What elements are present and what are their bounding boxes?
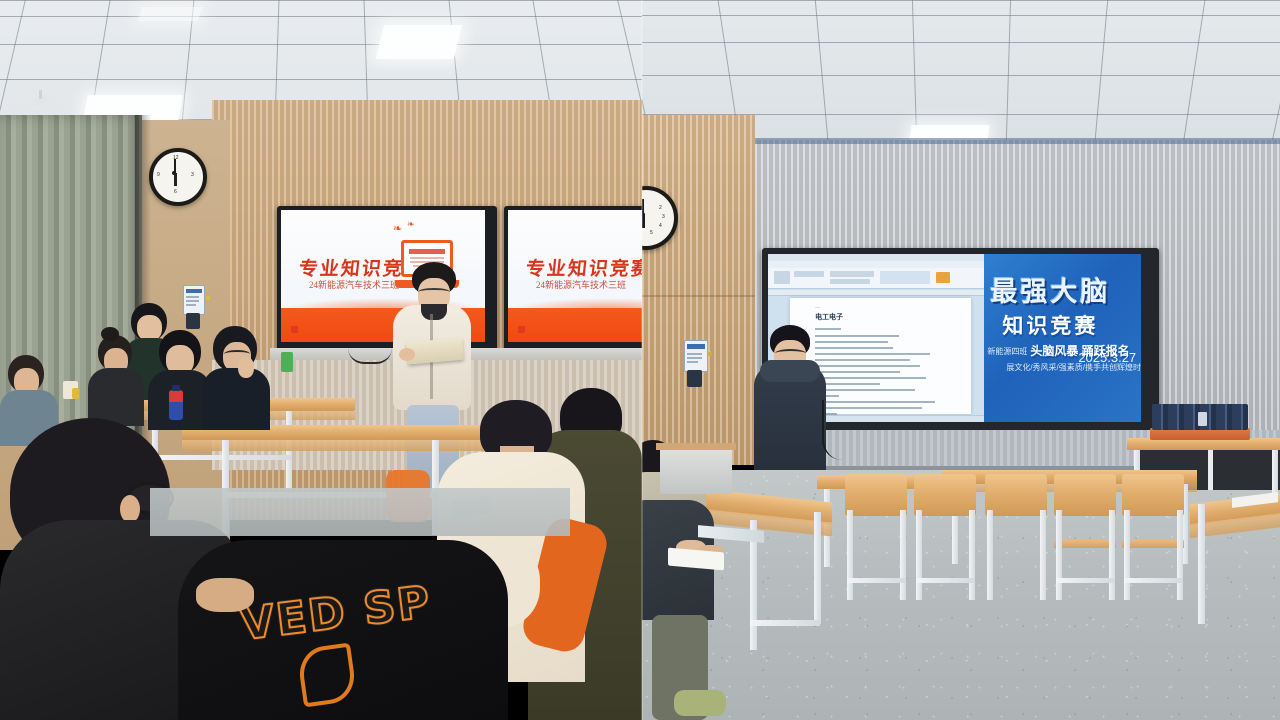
ceiling-speaker-stem bbox=[39, 90, 42, 99]
doc-ruler bbox=[768, 290, 984, 296]
phone-rack-device-highlight bbox=[1198, 412, 1207, 426]
back-desk-shelf-divider bbox=[1208, 450, 1213, 490]
ribbon-button[interactable] bbox=[774, 271, 790, 284]
chair-leg bbox=[1177, 510, 1183, 600]
slide-subtitle-2: 24新能源汽车技术三班 bbox=[536, 278, 626, 291]
wall-clock: 12 3 6 9 bbox=[149, 148, 207, 206]
chair-back[interactable] bbox=[914, 474, 976, 516]
right-presenter-hood bbox=[760, 360, 820, 382]
chair-leg bbox=[1056, 510, 1062, 600]
poster-headline: 最强大脑 bbox=[990, 270, 1110, 309]
chair-leg bbox=[1124, 510, 1130, 600]
floor-left bbox=[150, 488, 570, 536]
chair-seat[interactable] bbox=[1122, 540, 1184, 548]
poster-subhead: 知识竞赛 bbox=[1002, 310, 1098, 340]
ribbon-button[interactable] bbox=[880, 271, 930, 284]
chair-leg bbox=[987, 510, 993, 600]
ribbon-button[interactable] bbox=[830, 279, 870, 284]
bottle-cap bbox=[172, 385, 180, 391]
wall-trim bbox=[755, 138, 1280, 144]
wall-reader-base bbox=[186, 313, 200, 329]
desk-item bbox=[72, 388, 79, 399]
display-cable-right bbox=[822, 400, 850, 460]
chair-crossbar bbox=[916, 578, 974, 583]
chair-back[interactable] bbox=[985, 474, 1047, 516]
chair-crossbar bbox=[1056, 578, 1114, 583]
left-photo-panel: 12 3 6 9 ❧ ❧ 专业知识竞赛 24新能源汽车技术三班 bbox=[0, 0, 642, 720]
bird-decor-icon: ❧ bbox=[393, 222, 402, 235]
chair-back[interactable] bbox=[1122, 474, 1184, 516]
wall-indicator-dot bbox=[206, 296, 210, 300]
wood-slat-wall-right bbox=[642, 115, 755, 465]
student-bun bbox=[101, 327, 119, 341]
slide-title-2: 专业知识竞赛 bbox=[525, 254, 642, 281]
student-desk-2-front bbox=[182, 440, 512, 451]
panel-seam-divider bbox=[641, 0, 643, 720]
chair-leg bbox=[1109, 510, 1115, 600]
ceiling-light bbox=[376, 25, 462, 59]
slide-dot bbox=[291, 326, 298, 333]
doc-heading-small: ····· bbox=[815, 305, 820, 309]
wall-indicator-dot bbox=[708, 352, 712, 356]
presenter-glasses-icon bbox=[418, 288, 450, 296]
ribbon-button[interactable] bbox=[830, 271, 874, 277]
ribbon-button[interactable] bbox=[794, 271, 824, 277]
wall-reader-base-right bbox=[687, 370, 702, 387]
chair-seat[interactable] bbox=[1054, 540, 1116, 548]
display-bezel-right: 专业知识竞赛 24新能源汽车技术三班 bbox=[504, 206, 642, 354]
seated-student-shoe bbox=[674, 690, 726, 716]
chair-crossbar bbox=[1124, 578, 1182, 583]
presenter-hand bbox=[399, 348, 415, 361]
poster-footer: 展文化/秀风采/强素质/携手共创辉煌时代 bbox=[1006, 362, 1141, 373]
wall-socket bbox=[281, 352, 293, 372]
poster-class-label: 新能源四班 bbox=[987, 346, 1027, 357]
doc-title: 电工电子 bbox=[815, 312, 843, 322]
student-body bbox=[202, 368, 270, 430]
right-presenter-glasses-icon bbox=[775, 349, 806, 358]
wall-card-reader[interactable] bbox=[183, 285, 205, 315]
side-cabinet-top bbox=[656, 443, 736, 450]
chair-leg bbox=[900, 510, 906, 600]
clock-center bbox=[172, 171, 176, 175]
side-cabinet bbox=[660, 448, 732, 494]
wall-card-reader-right[interactable] bbox=[684, 340, 708, 372]
desk-leg bbox=[1198, 504, 1205, 624]
screenshot-collage: 12 3 6 9 ❧ ❧ 专业知识竞赛 24新能源汽车技术三班 bbox=[0, 0, 1280, 720]
presenter-collar bbox=[421, 304, 447, 320]
competition-poster[interactable]: 最强大脑 知识竞赛 新能源四班 头脑风暴 踊跃报名 2025.3.27 展文化/… bbox=[984, 254, 1141, 422]
display-screen-right[interactable]: 专业知识竞赛 24新能源汽车技术三班 bbox=[508, 210, 642, 342]
slide-dot bbox=[518, 326, 525, 333]
chair-leg bbox=[847, 510, 853, 600]
chair-leg bbox=[916, 510, 922, 600]
chair-leg bbox=[969, 510, 975, 600]
ribbon-button-highlight[interactable] bbox=[936, 272, 950, 283]
desk-crossbar bbox=[750, 620, 820, 626]
student-hand bbox=[238, 357, 254, 378]
slide-subtitle: 24新能源汽车技术三班 bbox=[309, 278, 399, 291]
chair-back[interactable] bbox=[1054, 474, 1116, 516]
desk-leg bbox=[814, 512, 821, 624]
chair-crossbar bbox=[847, 578, 905, 583]
ceiling-light bbox=[138, 7, 203, 21]
foreground-student-ear bbox=[120, 495, 140, 523]
right-photo-panel: 2 3 4 5 bbox=[642, 0, 1280, 720]
chair-leg bbox=[1040, 510, 1046, 600]
student-hand-foreground bbox=[196, 578, 254, 612]
bird-decor-icon: ❧ bbox=[407, 219, 415, 230]
water-bottle bbox=[169, 390, 183, 420]
chair-back[interactable] bbox=[845, 474, 907, 516]
